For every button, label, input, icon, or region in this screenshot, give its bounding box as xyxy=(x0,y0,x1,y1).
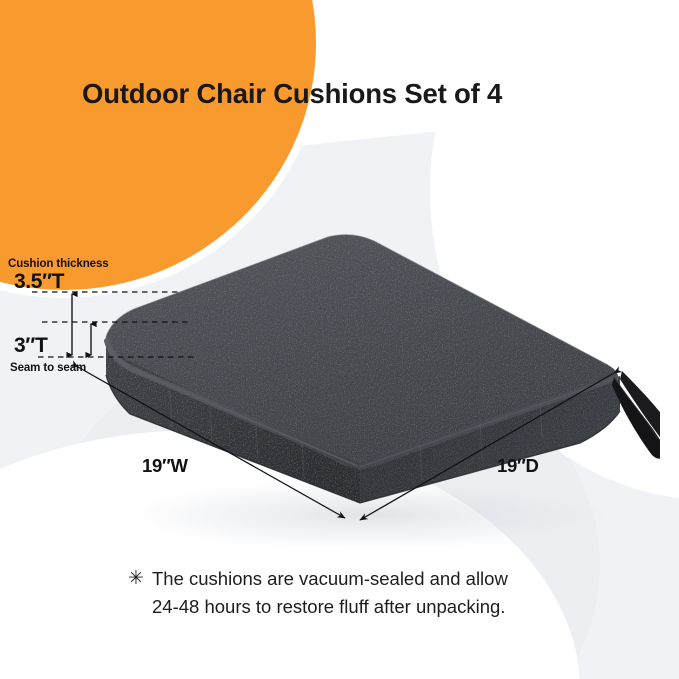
fabric-tie-strap xyxy=(612,371,660,459)
width-value: 19″W xyxy=(142,455,188,477)
seam-caption: Seam to seam xyxy=(10,362,86,374)
depth-value: 19″D xyxy=(497,455,539,477)
page-title: Outdoor Chair Cushions Set of 4 xyxy=(82,78,502,110)
footnote-line-2: 24-48 hours to restore fluff after unpac… xyxy=(152,593,598,621)
thickness-caption: Cushion thickness xyxy=(8,258,109,270)
product-infographic: Outdoor Chair Cushions Set of 4 xyxy=(0,0,679,679)
footnote-line-1: The cushions are vacuum-sealed and allow xyxy=(152,565,598,593)
seam-value: 3″T xyxy=(14,334,47,358)
footnote-asterisk-icon: ✳ xyxy=(128,566,144,592)
cushion-illustration xyxy=(60,215,660,545)
thickness-value: 3.5″T xyxy=(14,270,64,294)
footnote: ✳ The cushions are vacuum-sealed and all… xyxy=(128,565,598,621)
